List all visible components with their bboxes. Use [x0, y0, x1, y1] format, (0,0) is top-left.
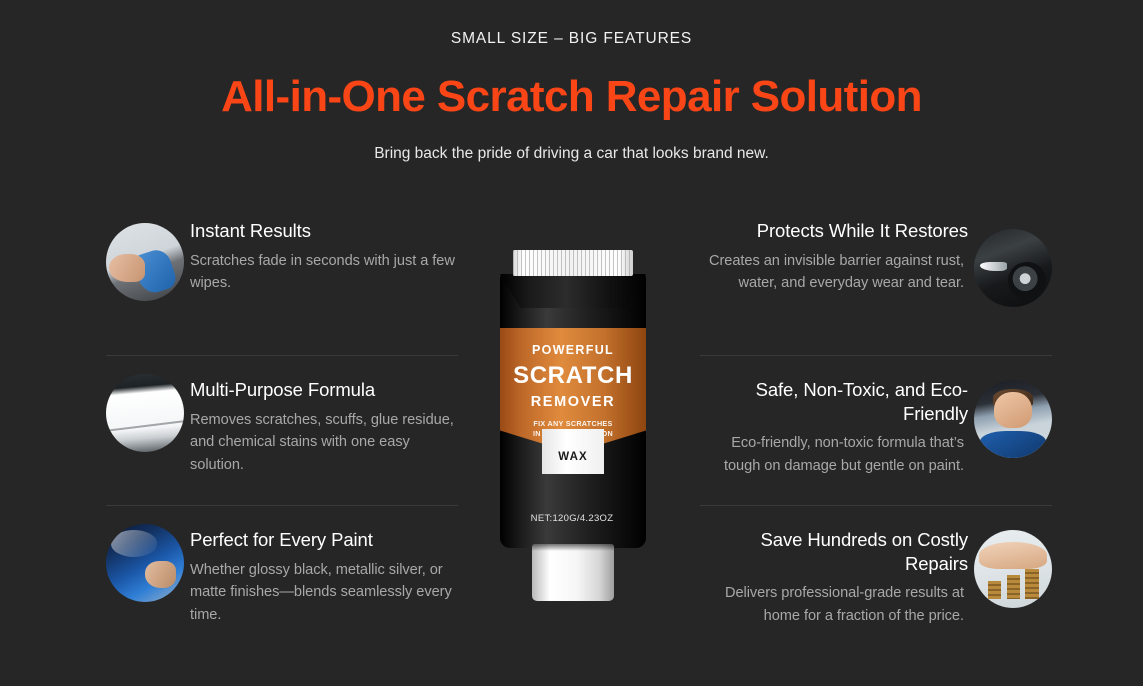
- white-car-hood-icon: [106, 374, 184, 452]
- feature-title: Save Hundreds on Costly Repairs: [700, 528, 968, 575]
- tube-crimp-seal: [513, 250, 633, 276]
- feature-description: Whether glossy black, metallic silver, o…: [190, 559, 458, 627]
- wax-label: WAX: [558, 451, 588, 463]
- feature-description: Scratches fade in seconds with just a fe…: [190, 250, 458, 295]
- label-line-powerful: POWERFUL: [500, 343, 646, 357]
- feature-description: Removes scratches, scuffs, glue residue,…: [190, 409, 458, 477]
- page-subtitle: Bring back the pride of driving a car th…: [0, 145, 1143, 163]
- feature-item: Multi-Purpose Formula Removes scratches,…: [106, 355, 458, 495]
- wax-badge: WAX: [542, 429, 604, 474]
- hand-wiping-car-icon: [106, 223, 184, 301]
- net-weight-text: NET:120G/4.23OZ: [489, 513, 655, 524]
- features-column-left: Instant Results Scratches fade in second…: [106, 205, 458, 645]
- feature-description: Delivers professional-grade results at h…: [700, 582, 964, 627]
- feature-item: Instant Results Scratches fade in second…: [106, 205, 458, 345]
- promo-page: SMALL SIZE – BIG FEATURES All-in-One Scr…: [0, 0, 1143, 686]
- blue-car-polish-icon: [106, 524, 184, 602]
- product-tube-image: POWERFUL SCRATCH REMOVER FIX ANY SCRATCH…: [489, 243, 655, 608]
- feature-description: Creates an invisible barrier against rus…: [700, 250, 964, 295]
- label-line-remover: REMOVER: [500, 394, 646, 410]
- feature-title: Protects While It Restores: [700, 219, 968, 243]
- label-line-scratch: SCRATCH: [500, 362, 646, 390]
- feature-title: Perfect for Every Paint: [190, 528, 458, 552]
- features-column-right: Protects While It Restores Creates an in…: [700, 205, 1052, 645]
- hands-over-coins-icon: [974, 530, 1052, 608]
- feature-title: Safe, Non-Toxic, and Eco-Friendly: [700, 378, 968, 425]
- tube-shoulder: [500, 274, 646, 308]
- feature-item: Perfect for Every Paint Whether glossy b…: [106, 505, 458, 645]
- page-title: All-in-One Scratch Repair Solution: [0, 73, 1143, 121]
- feature-item: Protects While It Restores Creates an in…: [700, 205, 1052, 345]
- smiling-man-icon: [974, 380, 1052, 458]
- page-header: SMALL SIZE – BIG FEATURES All-in-One Scr…: [0, 0, 1143, 163]
- feature-item: Save Hundreds on Costly Repairs Delivers…: [700, 505, 1052, 645]
- tube-cap: [532, 544, 614, 601]
- feature-title: Multi-Purpose Formula: [190, 378, 458, 402]
- feature-description: Eco-friendly, non-toxic formula that’s t…: [700, 432, 964, 477]
- feature-item: Safe, Non-Toxic, and Eco-Friendly Eco-fr…: [700, 355, 1052, 495]
- feature-title: Instant Results: [190, 219, 458, 243]
- eyebrow-text: SMALL SIZE – BIG FEATURES: [0, 30, 1143, 48]
- black-car-wheel-icon: [974, 229, 1052, 307]
